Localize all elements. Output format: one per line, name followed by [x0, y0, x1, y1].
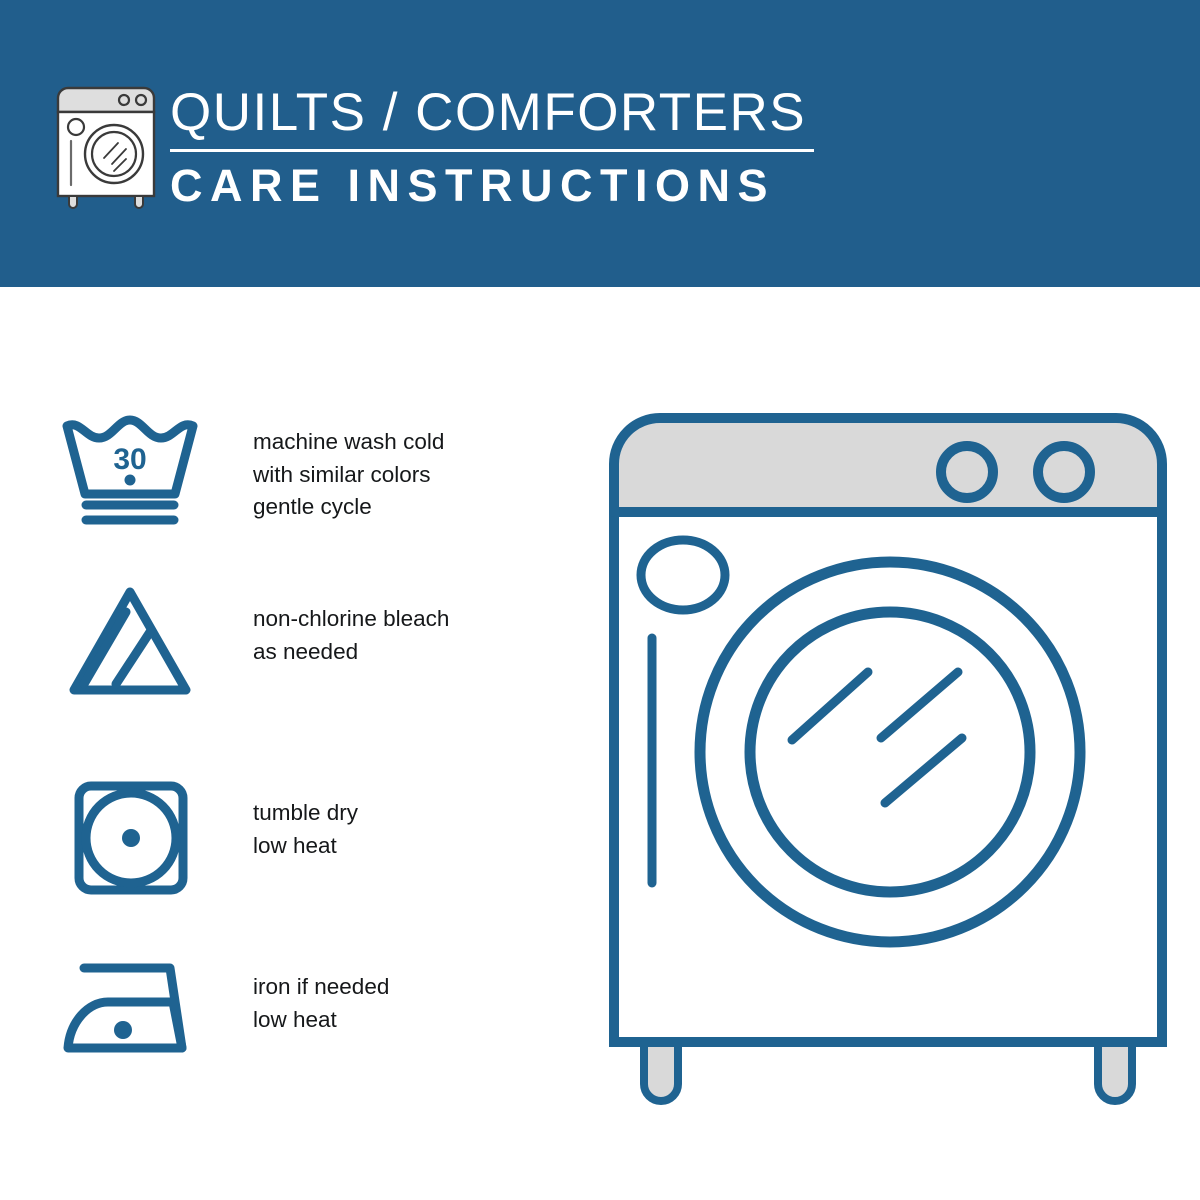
page-title: QUILTS / COMFORTERS — [170, 84, 830, 142]
care-item-label-iron: iron if needed low heat — [253, 971, 389, 1036]
non-chlorine-bleach-triangle-icon — [60, 584, 200, 704]
iron-low-heat-icon — [60, 952, 200, 1072]
care-item-label-tumble-dry: tumble dry low heat — [253, 797, 358, 862]
title-divider — [170, 149, 814, 152]
wash-tub-30-gentle-icon: 30 — [60, 412, 200, 532]
care-instruction-list: 30 machine wash cold with similar colors… — [0, 287, 560, 1200]
header-banner: QUILTS / COMFORTERS CARE INSTRUCTIONS — [0, 0, 1200, 287]
front-load-washing-machine-illustration — [596, 400, 1180, 1120]
header-title-block: QUILTS / COMFORTERS CARE INSTRUCTIONS — [170, 84, 830, 211]
foot-left — [644, 1038, 678, 1101]
care-item-label-machine-wash: machine wash cold with similar colors ge… — [253, 426, 444, 524]
washing-machine-icon — [52, 82, 160, 210]
wash-temperature-value: 30 — [113, 443, 146, 476]
care-instructions-infographic: QUILTS / COMFORTERS CARE INSTRUCTIONS — [0, 0, 1200, 1200]
foot-right — [1098, 1038, 1132, 1101]
tumble-dry-low-heat-icon — [60, 778, 200, 898]
page-subtitle: CARE INSTRUCTIONS — [170, 161, 830, 211]
care-item-label-bleach: non-chlorine bleach as needed — [253, 603, 449, 668]
